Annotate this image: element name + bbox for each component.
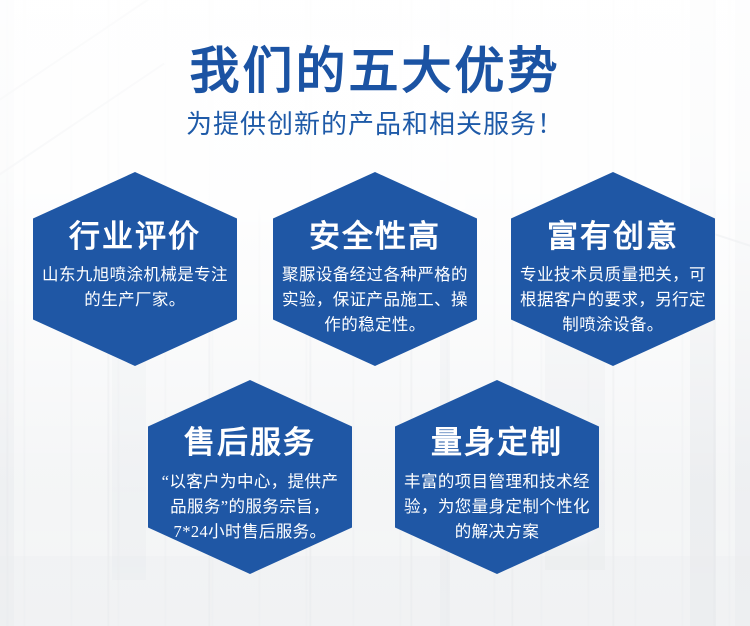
advantage-title: 行业评价 (69, 220, 201, 254)
advantage-body: “以客户为中心，提供产品服务”的服务宗旨，7*24小时售后服务。 (155, 469, 345, 544)
page-title: 我们的五大优势 (0, 44, 750, 98)
advantage-body: 专业技术员质量把关，可根据客户的要求，另行定制喷涂设备。 (518, 262, 708, 337)
advantage-title: 量身定制 (431, 426, 563, 460)
advantage-body: 丰富的项目管理和技术经验，为您量身定制个性化的解决方案 (402, 469, 592, 544)
page-subtitle: 为提供创新的产品和相关服务！ (0, 110, 750, 140)
advantage-card-creative[interactable]: 富有创意 专业技术员质量把关，可根据客户的要求，另行定制喷涂设备。 (511, 172, 715, 366)
advantage-title: 售后服务 (184, 426, 316, 460)
advantage-title: 安全性高 (309, 220, 441, 254)
heading-block: 我们的五大优势 为提供创新的产品和相关服务！ (0, 44, 750, 140)
advantage-body: 山东九旭喷涂机械是专注的生产厂家。 (40, 262, 230, 312)
advantage-card-after-sales[interactable]: 售后服务 “以客户为中心，提供产品服务”的服务宗旨，7*24小时售后服务。 (148, 380, 352, 574)
promo-banner: 我们的五大优势 为提供创新的产品和相关服务！ 行业评价 山东九旭喷涂机械是专注的… (0, 0, 750, 626)
advantage-body: 聚脲设备经过各种严格的实验，保证产品施工、操作的稳定性。 (280, 262, 470, 337)
advantage-title: 富有创意 (547, 220, 679, 254)
